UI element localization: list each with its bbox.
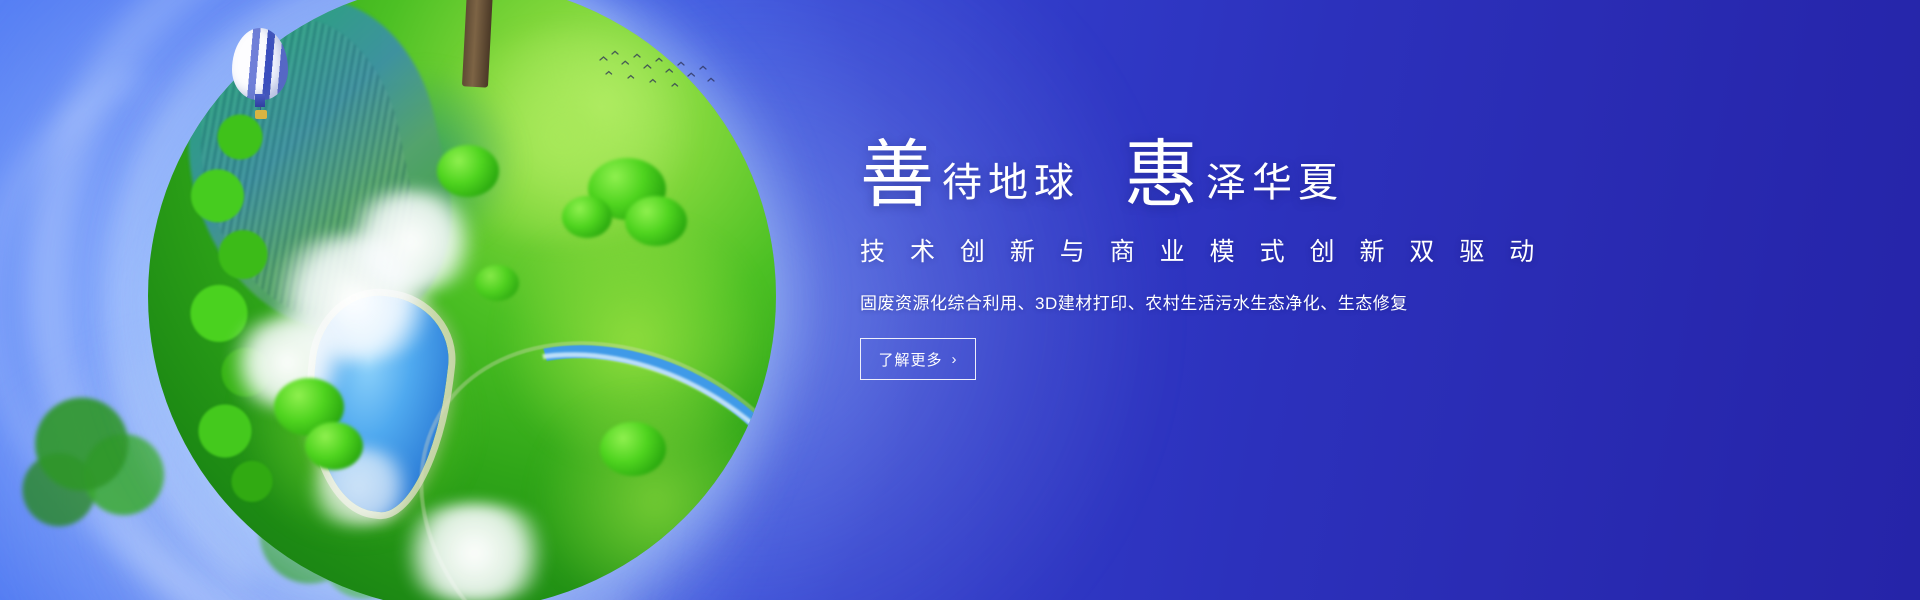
banner-copy: 善 待地球 惠 泽华夏 技 术 创 新 与 商 业 模 式 创 新 双 驱 动 … xyxy=(860,138,1560,380)
bush xyxy=(562,196,612,238)
learn-more-button[interactable]: 了解更多 › xyxy=(860,338,976,380)
learn-more-label: 了解更多 xyxy=(878,349,942,370)
title-text-2: 泽华夏 xyxy=(1206,163,1344,203)
birds-flock-icon xyxy=(598,48,718,94)
bush xyxy=(305,422,363,470)
page-subtitle: 技 术 创 新 与 商 业 模 式 创 新 双 驱 动 xyxy=(860,232,1560,268)
page-description: 固废资源化综合利用、3D建材打印、农村生活污水生态净化、生态修复 xyxy=(860,289,1560,314)
hot-air-balloon-icon xyxy=(232,28,294,130)
page-title: 善 待地球 惠 泽华夏 xyxy=(860,138,1560,212)
title-char-primary-2: 惠 xyxy=(1124,138,1198,212)
hero-banner: 善 待地球 惠 泽华夏 技 术 创 新 与 商 业 模 式 创 新 双 驱 动 … xyxy=(0,0,1920,600)
bush xyxy=(475,265,519,301)
bush xyxy=(437,145,499,197)
cloud-icon xyxy=(336,189,486,294)
bush xyxy=(600,422,666,476)
balloon-envelope xyxy=(232,28,288,100)
bush xyxy=(625,196,687,246)
title-text-1: 待地球 xyxy=(942,163,1080,203)
cloud-icon xyxy=(387,503,562,600)
title-char-primary-1: 善 xyxy=(860,138,934,212)
balloon-basket xyxy=(255,110,267,119)
chevron-right-icon: › xyxy=(952,351,958,368)
